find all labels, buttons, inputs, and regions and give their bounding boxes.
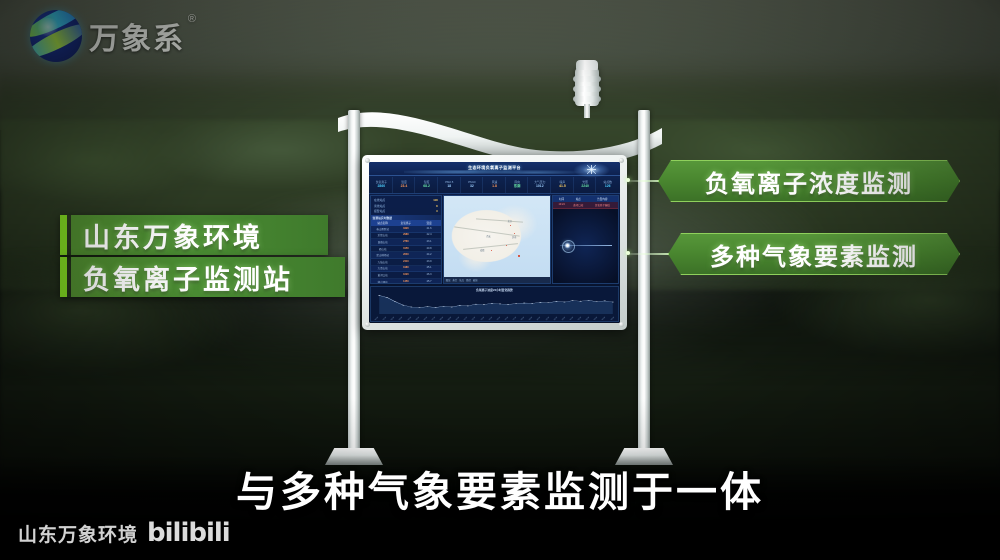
sun-burst-icon [564,162,610,180]
chart-x-label: 22:00 [553,317,557,321]
watermark-company: 山东万象环境 [18,520,138,547]
stat-key: 离线站点 [374,204,385,208]
table-cell: 2980 [394,233,417,239]
left-banner-1: 山东万象环境 [60,215,328,255]
table-cell: 1620 [394,272,417,278]
stat-key: 在线站点 [374,198,385,202]
chart-x-label: 06:00 [423,317,427,321]
rail-shape [336,100,664,162]
right-panel: 时间站点告警内容 10:24黄河口站负氧离子偏低 [552,195,619,284]
kpi-value: 1.8 [492,185,497,188]
table-row[interactable]: 蒙山林场站264024.2 [371,252,441,259]
left-banner-2-text: 负氧离子监测站 [83,258,293,297]
kpi-value: 18 [447,185,451,188]
dashboard-title: 生态环境负氧离子监测平台 [468,165,521,171]
table-cell: 23.9 [417,259,440,265]
weather-sensor-icon [572,58,602,116]
chart-x-label: 08:00 [440,317,444,321]
chart-x-label: 21:00 [545,317,549,321]
table-body: 泰山景区站342021.6沂蒙山站298022.4昆嵛山站276023.1崂山站… [371,226,441,283]
map-label: 北京 [508,219,512,223]
monitoring-kiosk: 生态环境负氧离子监测平台 负氧离子2860温度23.4湿度68.2PM2.518… [300,60,700,470]
map-toolbar[interactable]: 图层热力站点路径缩放 [444,277,551,283]
registered-mark: ® [188,13,198,25]
map-landmass [444,196,551,283]
trend-chart-panel: 负氧离子浓度24小时变化趋势 00:0001:0002:0003:0004:00… [370,286,619,322]
table-cell: 黄河口站 [371,272,394,278]
chart-x-label: 14:00 [488,317,492,321]
display-screen[interactable]: 生态环境负氧离子监测平台 负氧离子2860温度23.4湿度68.2PM2.518… [369,162,620,323]
kpi-value: 东南 [514,185,521,188]
table-cell: 2760 [394,239,417,245]
alert-cell: 负氧离子偏低 [587,202,618,208]
table-cell: 23.1 [417,239,440,245]
sensor-ring-1 [573,76,601,82]
table-cell: 22.4 [417,233,440,239]
table-cell: 崂山站 [371,246,394,252]
slider-knob[interactable] [564,242,571,249]
stat-value: 118 [433,198,438,202]
kpi-value: 126 [605,185,611,188]
brand-name-text: 万象系 [89,23,185,56]
map-tool-button[interactable]: 热力 [453,278,458,282]
table-row[interactable]: 大青山站198025.1 [371,266,441,273]
stat-value: 8 [436,204,438,208]
chart-x-label: 12:00 [472,317,476,321]
dashboard-middle: 在线站点118离线站点8报警站点3 监测站实时数据 站点名称负氧离子温度 泰山景… [369,194,620,285]
chart-x-label: 05:00 [415,317,419,321]
chart-x-label: 07:00 [431,317,435,321]
watermark: 山东万象环境 bilibili [18,518,230,548]
table-cell: 大青山站 [371,266,394,272]
trend-chart-svg [376,293,616,314]
map-tool-button[interactable]: 缩放 [473,278,478,282]
table-cell: 26.3 [417,272,440,278]
stat-row: 离线站点8 [374,204,438,208]
table-row[interactable]: 崂山站315020.8 [371,246,441,253]
table-row[interactable]: 九仙山站241023.9 [371,259,441,266]
right-banner-1: 负氧离子浓度监测 [658,160,960,202]
connector-line-1 [628,180,660,182]
chart-x-label: 13:00 [480,317,484,321]
table-cell: 25.7 [417,279,440,283]
chart-x-label: 09:00 [448,317,452,321]
banner-accent-bar [60,215,67,255]
curved-top-rail [336,100,664,162]
table-cell: 2410 [394,259,417,265]
connector-dot-2 [626,251,630,255]
left-panel: 在线站点118离线站点8报警站点3 监测站实时数据 站点名称负氧离子温度 泰山景… [370,195,442,284]
banner-body: 负氧离子监测站 [71,257,345,297]
table-cell: 1980 [394,266,417,272]
table-row[interactable]: 泰山景区站342021.6 [371,226,441,233]
alert-cell: 10:24 [553,202,570,208]
left-banner-2: 负氧离子监测站 [60,257,345,297]
kpi-value: 2860 [378,185,386,188]
kiosk-post-right [638,110,650,450]
kpi-card: 风向东南 [507,177,529,193]
table-row[interactable]: 沂蒙山站298022.4 [371,233,441,240]
table-cell: 1450 [394,279,417,283]
sensor-ring-3 [573,96,601,102]
table-cell: 泰山景区站 [371,226,394,232]
dashboard: 生态环境负氧离子监测平台 负氧离子2860温度23.4湿度68.2PM2.518… [369,162,620,323]
kpi-card: 负氧离子2860 [371,177,393,193]
chart-x-label: 05:00 [610,317,614,321]
station-table: 站点名称负氧离子温度 泰山景区站342021.6沂蒙山站298022.4昆嵛山站… [371,220,441,283]
kpi-card: PM1032 [462,177,484,193]
chart-x-label: 03:00 [594,317,598,321]
video-frame: 万象系 ® [0,0,1000,560]
stat-row: 报警站点3 [374,209,438,213]
alert-list: 10:24黄河口站负氧离子偏低 [553,202,618,209]
chart-x-label: 03:00 [399,317,403,321]
chart-x-label: 00:00 [569,317,573,321]
kpi-value: 2240 [581,185,589,188]
map-label: 成都 [480,248,484,252]
chart-title: 负氧离子浓度24小时变化趋势 [476,288,513,292]
right-banner-2-text: 多种气象要素监测 [710,237,918,272]
table-cell: 2640 [394,252,417,258]
chart-x-label: 23:00 [561,317,565,321]
chart-x-label: 15:00 [496,317,500,321]
map-label: 济南 [512,235,516,239]
map-tool-button[interactable]: 站点 [459,278,464,282]
globe-highlight [36,18,60,36]
chart-x-label: 11:00 [464,317,468,321]
table-row[interactable]: 微山湖站145025.7 [371,279,441,283]
sensor-cap [576,60,598,70]
table-cell: 21.6 [417,226,440,232]
globe-icon [30,10,82,62]
table-row[interactable]: 黄河口站162026.3 [371,272,441,279]
chart-x-label: 04:00 [602,317,606,321]
kpi-value: 41.5 [559,185,566,188]
alert-row[interactable]: 10:24黄河口站负氧离子偏低 [553,202,618,209]
chart-x-label: 16:00 [504,317,508,321]
gauge-slider[interactable] [553,209,618,283]
chart-x-label: 02:00 [391,317,395,321]
chart-x-label: 01:00 [383,317,387,321]
connector-line-2 [628,253,670,255]
kpi-value: 68.2 [423,185,430,188]
banner-accent-bar [60,257,67,297]
table-cell: 昆嵛山站 [371,239,394,245]
trend-chart [376,293,616,314]
table-cell: 蒙山林场站 [371,252,394,258]
bilibili-logo: bilibili [147,518,230,548]
chart-x-label: 20:00 [537,317,541,321]
map-station-dot[interactable] [506,245,507,246]
kpi-card: 大气压力1012 [529,177,551,193]
dashboard-header: 生态环境负氧离子监测平台 [369,162,620,176]
kpi-card: 湿度68.2 [416,177,438,193]
kpi-value: 32 [470,185,474,188]
table-cell: 25.1 [417,266,440,272]
table-cell: 沂蒙山站 [371,233,394,239]
table-cell: 微山湖站 [371,279,394,283]
table-cell: 3150 [394,246,417,252]
kpi-value: 23.4 [401,185,408,188]
map-station-dot[interactable] [518,255,519,256]
chart-x-label: 19:00 [529,317,533,321]
kpi-card: 温度23.4 [394,177,416,193]
chart-x-label: 01:00 [578,317,582,321]
stat-key: 报警站点 [374,209,385,213]
stat-value: 3 [436,209,438,213]
chart-x-label: 02:00 [586,317,590,321]
kpi-card: PM2.518 [439,177,461,193]
table-cell: 九仙山站 [371,259,394,265]
banner-body: 山东万象环境 [71,215,328,255]
alert-cell: 黄河口站 [570,202,587,208]
brand-name: 万象系 ® [89,14,185,58]
connector-dot-1 [626,178,630,182]
sensor-stem [584,104,590,118]
chart-x-label: 04:00 [407,317,411,321]
chart-x-label: 17:00 [513,317,517,321]
right-banner-2: 多种气象要素监测 [668,233,960,275]
chart-x-label: 00:00 [375,317,379,321]
table-cell: 24.2 [417,252,440,258]
station-stats: 在线站点118离线站点8报警站点3 [371,196,441,215]
brand-logo: 万象系 ® [30,10,185,62]
map-tool-button[interactable]: 图层 [446,278,451,282]
kpi-card: 风速1.8 [484,177,506,193]
subtitle-text: 与多种气象要素监测于一体 [0,458,1000,518]
chart-x-label: 10:00 [456,317,460,321]
kiosk-post-left [348,110,360,450]
chart-x-label: 18:00 [521,317,525,321]
kpi-value: 1012 [536,185,544,188]
stat-row: 在线站点118 [374,198,438,202]
left-banner-1-text: 山东万象环境 [83,216,263,255]
sensor-ring-2 [573,86,601,92]
map-tool-button[interactable]: 路径 [466,278,471,282]
china-map[interactable]: 北京 济南 西安 成都 图层热力站点路径缩放 山东省监测网 [444,196,551,283]
table-row[interactable]: 昆嵛山站276023.1 [371,239,441,246]
table-cell: 3420 [394,226,417,232]
table-cell: 20.8 [417,246,440,252]
map-label: 西安 [486,234,490,238]
display-frame: 生态环境负氧离子监测平台 负氧离子2860温度23.4湿度68.2PM2.518… [362,155,627,330]
chart-x-labels: 00:0001:0002:0003:0004:0005:0006:0007:00… [376,319,616,321]
right-banner-1-text: 负氧离子浓度监测 [705,164,913,199]
map-panel[interactable]: 北京 济南 西安 成都 图层热力站点路径缩放 山东省监测网 [443,195,552,284]
